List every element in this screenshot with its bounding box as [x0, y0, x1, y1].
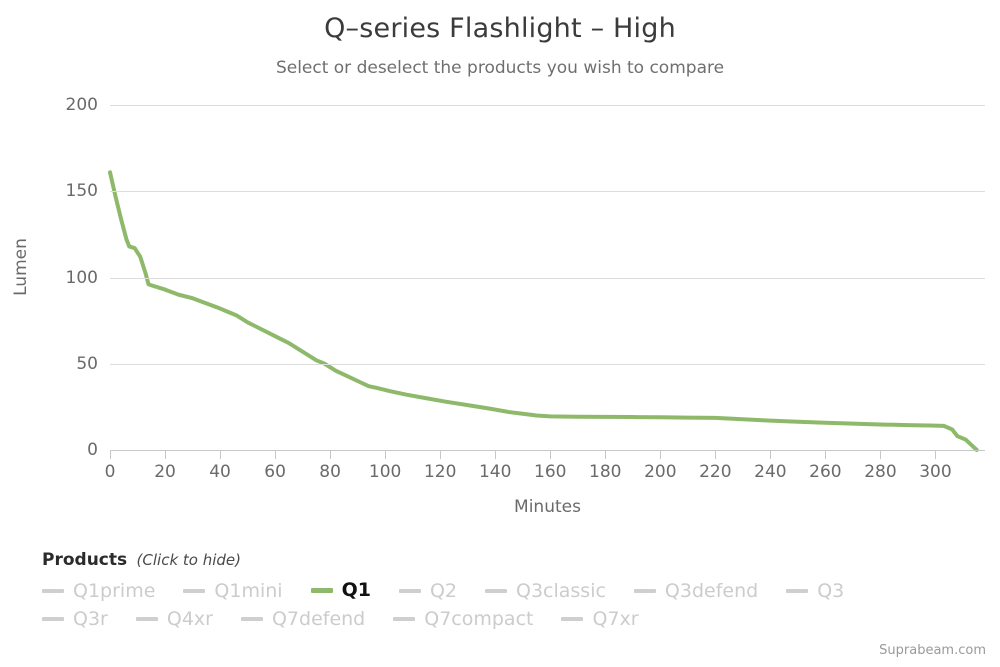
gridline-100	[110, 278, 985, 279]
chart-subtitle: Select or deselect the products you wish…	[0, 58, 1000, 78]
x-tick	[385, 451, 386, 459]
x-tick	[440, 451, 441, 459]
x-tick-label: 280	[864, 462, 896, 482]
legend-dash-icon	[241, 617, 263, 621]
legend-item-Q2[interactable]: Q2	[399, 580, 457, 602]
x-tick	[110, 451, 111, 459]
legend-dash-icon	[393, 617, 415, 621]
x-axis-title: Minutes	[110, 497, 985, 517]
y-tick-label: 150	[28, 181, 98, 201]
x-tick-label: 0	[105, 462, 116, 482]
x-tick	[880, 451, 881, 459]
x-tick-label: 180	[589, 462, 621, 482]
x-tick-label: 40	[209, 462, 231, 482]
legend-header: Products (Click to hide)	[42, 550, 992, 570]
x-axis-ticks: 0204060801001201401601802002202402602803…	[110, 451, 1000, 491]
legend-dash-icon	[399, 589, 421, 593]
legend-item-Q3classic[interactable]: Q3classic	[485, 580, 606, 602]
y-tick-label: 100	[28, 268, 98, 288]
plot-area	[110, 105, 985, 450]
legend-item-Q4xr[interactable]: Q4xr	[136, 608, 213, 630]
legend-dash-icon	[786, 589, 808, 593]
x-tick	[715, 451, 716, 459]
x-tick-label: 260	[809, 462, 841, 482]
legend-item-label: Q3classic	[516, 580, 606, 602]
x-tick	[605, 451, 606, 459]
x-tick	[770, 451, 771, 459]
x-tick	[935, 451, 936, 459]
legend-item-label: Q1prime	[73, 580, 155, 602]
legend-dash-icon	[634, 589, 656, 593]
y-tick-label: 0	[28, 440, 98, 460]
legend-title: Products	[42, 550, 127, 570]
x-tick-label: 240	[754, 462, 786, 482]
legend-item-Q1prime[interactable]: Q1prime	[42, 580, 155, 602]
legend-item-Q1mini[interactable]: Q1mini	[183, 580, 282, 602]
x-tick-label: 120	[424, 462, 456, 482]
legend-item-label: Q7xr	[592, 608, 638, 630]
y-tick-label: 50	[28, 354, 98, 374]
gridline-150	[110, 191, 985, 192]
legend-item-label: Q3r	[73, 608, 108, 630]
page-title: Q–series Flashlight – High	[0, 13, 1000, 44]
legend-dash-icon	[485, 589, 507, 593]
legend-item-label: Q3defend	[665, 580, 758, 602]
legend-dash-icon	[183, 589, 205, 593]
x-tick-label: 60	[264, 462, 286, 482]
legend-item-label: Q7defend	[272, 608, 365, 630]
legend-row: Q1primeQ1miniQ1Q2Q3classicQ3defendQ3	[42, 579, 992, 608]
x-tick	[825, 451, 826, 459]
x-tick-label: 80	[319, 462, 341, 482]
x-tick-label: 100	[369, 462, 401, 482]
legend: Products (Click to hide) Q1primeQ1miniQ1…	[42, 550, 992, 637]
footer-credit: Suprabeam.com	[879, 643, 986, 658]
legend-dash-icon	[311, 588, 333, 593]
legend-item-label: Q4xr	[167, 608, 213, 630]
chart-card: Q–series Flashlight – High Select or des…	[0, 0, 1000, 667]
legend-item-Q3defend[interactable]: Q3defend	[634, 580, 758, 602]
legend-row: Q3rQ4xrQ7defendQ7compactQ7xr	[42, 608, 992, 637]
legend-item-label: Q2	[430, 580, 457, 602]
legend-item-Q3[interactable]: Q3	[786, 580, 844, 602]
x-tick	[330, 451, 331, 459]
legend-dash-icon	[136, 617, 158, 621]
legend-dash-icon	[561, 617, 583, 621]
x-tick-label: 200	[644, 462, 676, 482]
legend-item-Q3r[interactable]: Q3r	[42, 608, 108, 630]
gridline-50	[110, 364, 985, 365]
x-tick-label: 160	[534, 462, 566, 482]
legend-item-Q7xr[interactable]: Q7xr	[561, 608, 638, 630]
legend-hint: (Click to hide)	[137, 551, 241, 569]
legend-rows: Q1primeQ1miniQ1Q2Q3classicQ3defendQ3Q3rQ…	[42, 579, 992, 637]
x-tick-label: 20	[154, 462, 176, 482]
legend-dash-icon	[42, 617, 64, 621]
legend-item-label: Q1mini	[214, 580, 282, 602]
legend-item-Q7defend[interactable]: Q7defend	[241, 608, 365, 630]
legend-item-label: Q1	[342, 579, 371, 601]
series-line-Q1	[110, 172, 977, 450]
x-tick-label: 140	[479, 462, 511, 482]
x-tick	[275, 451, 276, 459]
x-tick-label: 300	[919, 462, 951, 482]
legend-dash-icon	[42, 589, 64, 593]
y-tick-label: 200	[28, 95, 98, 115]
legend-item-label: Q7compact	[424, 608, 533, 630]
legend-item-Q7compact[interactable]: Q7compact	[393, 608, 533, 630]
x-tick	[660, 451, 661, 459]
x-tick	[220, 451, 221, 459]
gridline-200	[110, 105, 985, 106]
x-tick	[165, 451, 166, 459]
x-tick	[495, 451, 496, 459]
legend-item-Q1[interactable]: Q1	[311, 579, 371, 601]
y-axis-ticks: 050100150200	[18, 105, 98, 450]
legend-item-label: Q3	[817, 580, 844, 602]
x-tick	[550, 451, 551, 459]
x-tick-label: 220	[699, 462, 731, 482]
